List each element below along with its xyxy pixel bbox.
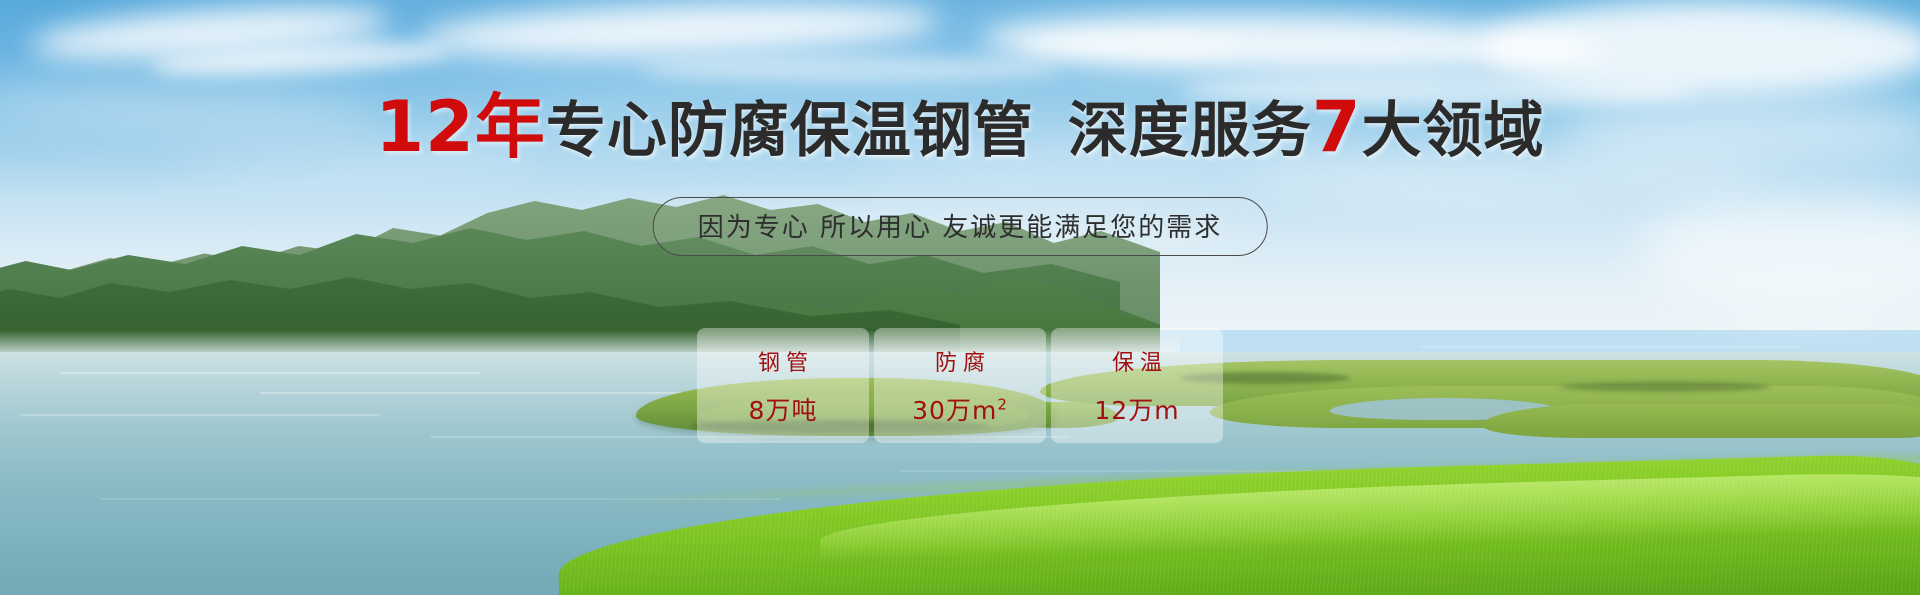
stat-card-value-text: 12万m: [1094, 396, 1179, 425]
stat-card-label: 防腐: [929, 345, 991, 377]
stat-card-value-text: 8万吨: [749, 396, 818, 425]
stat-card-label: 保温: [1106, 345, 1168, 377]
stat-card-value: 12万m: [1094, 391, 1179, 427]
hero-banner: 12年专心防腐保温钢管深度服务7大领域 因为专心 所以用心 友诚更能满足您的需求…: [0, 0, 1920, 595]
headline-part-one: 专心防腐保温钢管: [546, 96, 1034, 166]
stat-card-anticorrosion[interactable]: 防腐 30万m2: [874, 328, 1046, 443]
stat-card-value-text: 30万m: [912, 396, 997, 425]
banner-headline: 12年专心防腐保温钢管深度服务7大领域: [0, 82, 1920, 169]
headline-domains-number: 7: [1312, 86, 1362, 168]
headline-part-two: 深度服务: [1068, 96, 1312, 166]
headline-years-number: 12: [375, 86, 474, 168]
stat-card-label: 钢管: [752, 345, 814, 377]
banner-subtitle-pill: 因为专心 所以用心 友诚更能满足您的需求: [653, 197, 1268, 256]
headline-years-unit: 年: [475, 86, 546, 168]
stat-card-value: 30万m2: [912, 391, 1008, 427]
stat-card-group: 钢管 8万吨 防腐 30万m2 保温 12万m: [697, 328, 1223, 443]
banner-overlay: 12年专心防腐保温钢管深度服务7大领域 因为专心 所以用心 友诚更能满足您的需求…: [0, 0, 1920, 595]
stat-card-value: 8万吨: [749, 391, 818, 427]
stat-card-steel-pipe[interactable]: 钢管 8万吨: [697, 328, 869, 443]
headline-part-three: 大领域: [1362, 96, 1545, 166]
stat-card-insulation[interactable]: 保温 12万m: [1051, 328, 1223, 443]
stat-card-value-superscript: 2: [997, 395, 1008, 413]
